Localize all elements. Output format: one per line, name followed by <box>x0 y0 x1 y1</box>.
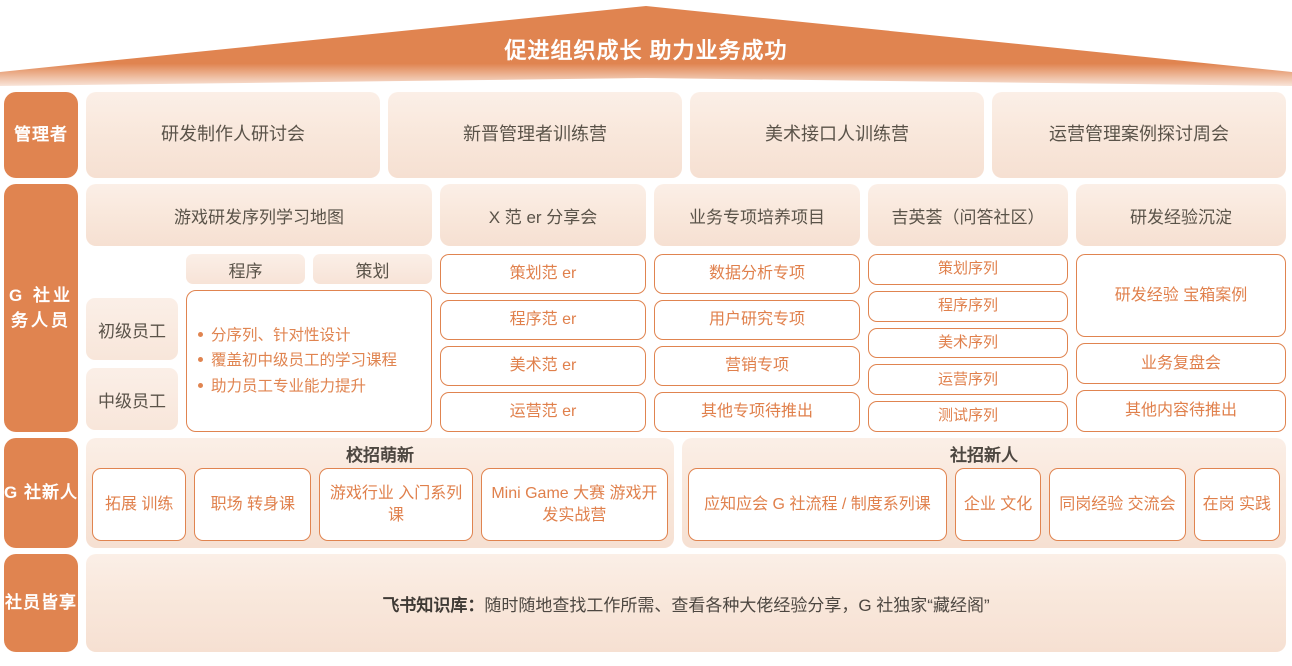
column-header-special-programs[interactable]: 业务专项培养项目 <box>654 184 860 246</box>
experience-items: 研发经验 宝箱案例 业务复盘会 其他内容待推出 <box>1076 246 1286 432</box>
item-special-2[interactable]: 营销专项 <box>654 346 860 386</box>
group-campus-recruits: 校招萌新 拓展 训练 职场 转身课 游戏行业 入门系列课 Mini Game 大… <box>86 438 674 548</box>
row-all-staff-body: 飞书知识库：随时随地查找工作所需、查看各种大佬经验分享，G 社独家“藏经阁” <box>86 554 1286 652</box>
bullet-item: 覆盖初中级员工的学习课程 <box>211 348 421 373</box>
item-social-1[interactable]: 企业 文化 <box>955 468 1041 541</box>
group-title-social: 社招新人 <box>688 438 1280 468</box>
page-title: 促进组织成长 助力业务成功 <box>0 40 1292 62</box>
campus-items: 拓展 训练 职场 转身课 游戏行业 入门系列课 Mini Game 大赛 游戏开… <box>92 468 668 541</box>
rows-container: 管理者 研发制作人研讨会 新晋管理者训练营 美术接口人训练营 运营管理案例探讨周… <box>0 92 1292 658</box>
row-business-staff: G 社业务人员 游戏研发序列学习地图 初级员工 中级员工 程序 策划 <box>0 184 1292 432</box>
row-label-all-staff: 社员皆享 <box>4 554 78 652</box>
item-special-1[interactable]: 用户研究专项 <box>654 300 860 340</box>
card-knowledge-base[interactable]: 飞书知识库：随时随地查找工作所需、查看各种大佬经验分享，G 社独家“藏经阁” <box>86 554 1286 652</box>
item-qa-3[interactable]: 运营序列 <box>868 364 1068 395</box>
item-qa-2[interactable]: 美术序列 <box>868 328 1068 359</box>
bullet-list: 分序列、针对性设计 覆盖初中级员工的学习课程 助力员工专业能力提升 <box>195 323 421 398</box>
sequence-tags: 程序 策划 <box>186 254 432 284</box>
column-qa-community: 吉英荟（问答社区） 策划序列 程序序列 美术序列 运营序列 测试序列 <box>868 184 1068 432</box>
group-title-campus: 校招萌新 <box>92 438 668 468</box>
group-social-recruits: 社招新人 应知应会 G 社流程 / 制度系列课 企业 文化 同岗经验 交流会 在… <box>682 438 1286 548</box>
tag-planning[interactable]: 策划 <box>313 254 432 284</box>
row-label-business-staff: G 社业务人员 <box>4 184 78 432</box>
org-training-system-diagram: 促进组织成长 助力业务成功 管理者 研发制作人研讨会 新晋管理者训练营 美术接口… <box>0 0 1292 666</box>
item-social-0[interactable]: 应知应会 G 社流程 / 制度系列课 <box>688 468 947 541</box>
column-header-experience-deposit[interactable]: 研发经验沉淀 <box>1076 184 1286 246</box>
item-campus-1[interactable]: 职场 转身课 <box>194 468 311 541</box>
column-header-learning-map[interactable]: 游戏研发序列学习地图 <box>86 184 432 246</box>
special-program-items: 数据分析专项 用户研究专项 营销专项 其他专项待推出 <box>654 246 860 432</box>
column-header-qa-community[interactable]: 吉英荟（问答社区） <box>868 184 1068 246</box>
item-fan-er-0[interactable]: 策划范 er <box>440 254 646 294</box>
item-experience-0-text: 研发经验 宝箱案例 <box>1115 285 1247 307</box>
item-campus-2[interactable]: 游戏行业 入门系列课 <box>319 468 473 541</box>
row-managers-body: 研发制作人研讨会 新晋管理者训练营 美术接口人训练营 运营管理案例探讨周会 <box>86 92 1286 178</box>
employee-levels: 初级员工 中级员工 <box>86 254 178 432</box>
item-campus-3[interactable]: Mini Game 大赛 游戏开发实战营 <box>481 468 668 541</box>
column-header-fan-er-sharing[interactable]: X 范 er 分享会 <box>440 184 646 246</box>
column-experience-deposit: 研发经验沉淀 研发经验 宝箱案例 业务复盘会 其他内容待推出 <box>1076 184 1286 432</box>
learning-map-detail: 程序 策划 分序列、针对性设计 覆盖初中级员工的学习课程 助力员工专业能力提升 <box>186 254 432 432</box>
row-newcomers: G 社新人 校招萌新 拓展 训练 职场 转身课 游戏行业 入门系列课 Mini … <box>0 438 1292 548</box>
row-managers: 管理者 研发制作人研讨会 新晋管理者训练营 美术接口人训练营 运营管理案例探讨周… <box>0 92 1292 178</box>
fan-er-items: 策划范 er 程序范 er 美术范 er 运营范 er <box>440 246 646 432</box>
tag-program[interactable]: 程序 <box>186 254 305 284</box>
row-newcomers-body: 校招萌新 拓展 训练 职场 转身课 游戏行业 入门系列课 Mini Game 大… <box>86 438 1286 548</box>
bullet-item: 分序列、针对性设计 <box>211 323 421 348</box>
card-manager-3[interactable]: 运营管理案例探讨周会 <box>992 92 1286 178</box>
knowledge-base-label: 飞书知识库： <box>382 596 484 615</box>
roof-banner: 促进组织成长 助力业务成功 <box>0 0 1292 88</box>
item-special-0[interactable]: 数据分析专项 <box>654 254 860 294</box>
column-fan-er-sharing: X 范 er 分享会 策划范 er 程序范 er 美术范 er 运营范 er <box>440 184 646 432</box>
item-experience-1[interactable]: 业务复盘会 <box>1076 343 1286 385</box>
item-fan-er-3[interactable]: 运营范 er <box>440 392 646 432</box>
item-campus-0[interactable]: 拓展 训练 <box>92 468 186 541</box>
item-special-3[interactable]: 其他专项待推出 <box>654 392 860 432</box>
item-fan-er-1[interactable]: 程序范 er <box>440 300 646 340</box>
item-qa-4[interactable]: 测试序列 <box>868 401 1068 432</box>
social-items: 应知应会 G 社流程 / 制度系列课 企业 文化 同岗经验 交流会 在岗 实践 <box>688 468 1280 541</box>
row-label-managers: 管理者 <box>4 92 78 178</box>
level-junior[interactable]: 初级员工 <box>86 298 178 360</box>
row-all-staff: 社员皆享 飞书知识库：随时随地查找工作所需、查看各种大佬经验分享，G 社独家“藏… <box>0 554 1292 652</box>
card-manager-2[interactable]: 美术接口人训练营 <box>690 92 984 178</box>
knowledge-base-desc: 随时随地查找工作所需、查看各种大佬经验分享，G 社独家“藏经阁” <box>484 596 989 615</box>
level-intermediate[interactable]: 中级员工 <box>86 368 178 430</box>
column-learning-map: 游戏研发序列学习地图 初级员工 中级员工 程序 策划 <box>86 184 432 432</box>
learning-map-body: 初级员工 中级员工 程序 策划 分序列、针对性设计 覆盖初中 <box>86 246 432 432</box>
item-social-3[interactable]: 在岗 实践 <box>1194 468 1280 541</box>
card-manager-0[interactable]: 研发制作人研讨会 <box>86 92 380 178</box>
item-social-2[interactable]: 同岗经验 交流会 <box>1049 468 1185 541</box>
qa-community-items: 策划序列 程序序列 美术序列 运营序列 测试序列 <box>868 246 1068 432</box>
item-fan-er-2[interactable]: 美术范 er <box>440 346 646 386</box>
row-business-staff-body: 游戏研发序列学习地图 初级员工 中级员工 程序 策划 <box>86 184 1286 432</box>
column-special-programs: 业务专项培养项目 数据分析专项 用户研究专项 营销专项 其他专项待推出 <box>654 184 860 432</box>
item-qa-0[interactable]: 策划序列 <box>868 254 1068 285</box>
item-qa-1[interactable]: 程序序列 <box>868 291 1068 322</box>
learning-map-bullets: 分序列、针对性设计 覆盖初中级员工的学习课程 助力员工专业能力提升 <box>186 290 432 432</box>
card-manager-1[interactable]: 新晋管理者训练营 <box>388 92 682 178</box>
row-label-newcomers: G 社新人 <box>4 438 78 548</box>
knowledge-base-text: 飞书知识库：随时随地查找工作所需、查看各种大佬经验分享，G 社独家“藏经阁” <box>382 591 989 616</box>
item-experience-2[interactable]: 其他内容待推出 <box>1076 390 1286 432</box>
bullet-item: 助力员工专业能力提升 <box>211 374 421 399</box>
item-experience-0[interactable]: 研发经验 宝箱案例 <box>1076 254 1286 337</box>
